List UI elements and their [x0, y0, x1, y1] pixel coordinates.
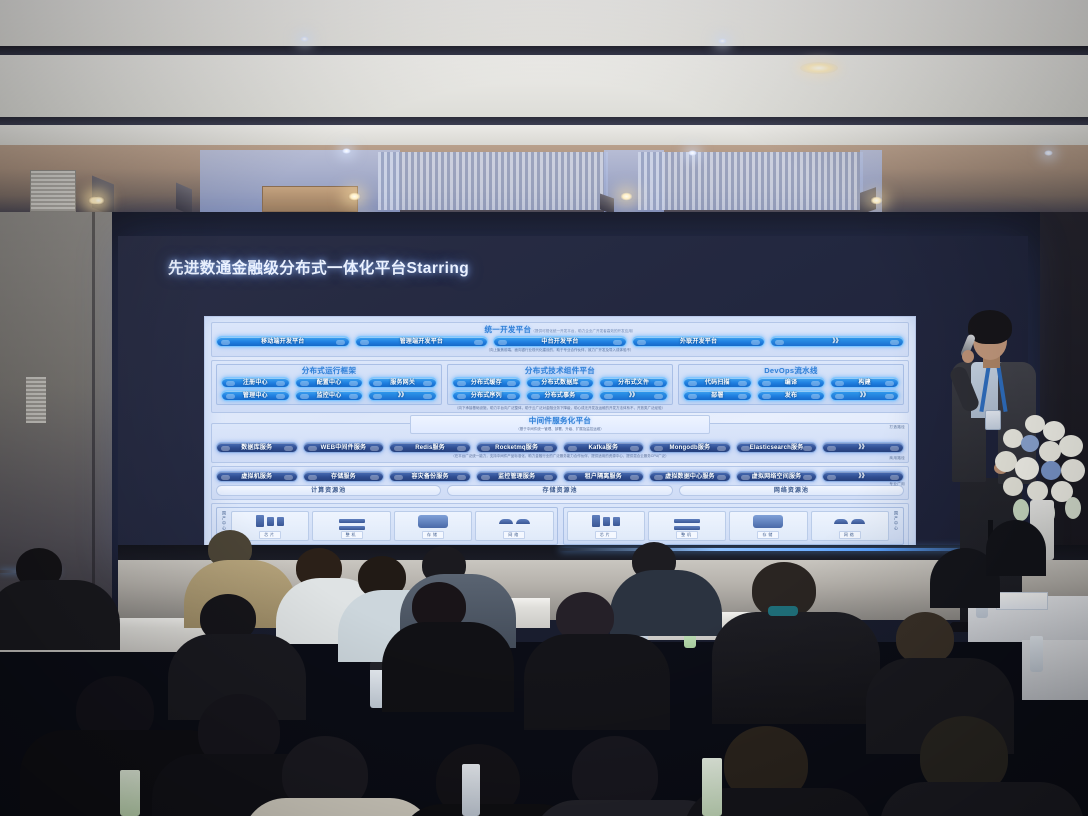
pill-distributed-database[interactable]: 分布式数据库	[526, 377, 595, 388]
pill-distributed-cache[interactable]: 分布式缓存	[452, 377, 521, 388]
audience-shoulders	[524, 634, 670, 730]
server-icon	[674, 519, 700, 523]
runtime-items-row2: 管理中心 监控中心 》》	[221, 390, 437, 401]
network-icons	[834, 512, 865, 531]
pill-monitor-center[interactable]: 监控中心	[295, 390, 364, 401]
pill-database-service[interactable]: 数据库服务	[216, 442, 298, 453]
layer-middleware-platform: 中间件服务化平台 （基于中间件统一管理、部署、升级、扩展及监控运维） 打造路径 …	[211, 423, 909, 462]
pill-management-center[interactable]: 管理中心	[221, 390, 290, 401]
flower	[1061, 459, 1085, 482]
layer-hardware: 国产中心 芯片 整机	[211, 503, 909, 549]
wall-seam	[92, 212, 95, 642]
column-title: DevOps流水线	[683, 367, 899, 375]
network-icon	[499, 519, 513, 524]
virtualization-items: 虚拟机服务 存储服务 容灾备份服务 监控管理服务 租户隔离服务 虚拟数据中心服务…	[216, 471, 904, 482]
lanyard	[768, 606, 798, 616]
ceiling-light	[688, 150, 697, 156]
ceiling-light	[718, 38, 727, 44]
water-bottle	[1030, 636, 1043, 672]
hw-caption: 整机	[676, 531, 698, 539]
pill-service-gateway[interactable]: 服务网关	[368, 377, 437, 388]
pill-rocketmq-service[interactable]: Rocketmq服务	[476, 442, 558, 453]
chip-icon	[267, 517, 274, 526]
hw-caption: 网络	[839, 531, 861, 539]
pill-tenant-isolation-service[interactable]: 租户隔离服务	[563, 471, 645, 482]
layer-note: （向下承接基础设施，助力平台向广泛整体，助于云广泛对金融业务下降级，助心成无开发…	[216, 406, 904, 410]
pill-more[interactable]: 》》	[599, 390, 668, 401]
pill-virtual-network-service[interactable]: 虚拟网络空间服务	[736, 471, 818, 482]
layer-title-sub: （基于中间件统一管理、部署、升级、扩展及监控运维）	[411, 427, 709, 431]
ceiling-air-grille-right	[638, 152, 863, 210]
pill-web-middleware-service[interactable]: WEB中间件服务	[303, 442, 385, 453]
network-icons	[499, 512, 530, 531]
ceiling-wood-inset	[262, 186, 358, 212]
pill-distributed-sequence[interactable]: 分布式序列	[452, 390, 521, 401]
audience-shoulders	[0, 580, 120, 650]
flower	[1039, 441, 1061, 462]
layer-note: （向上聚焦前端、面向银行业现代化建设的，助于专业合作伙伴，致力广开发及导入成体验…	[216, 348, 904, 352]
pill-external-dev[interactable]: 外联开发平台	[632, 336, 766, 347]
flower	[1003, 477, 1023, 496]
ceiling-band-lower	[0, 125, 1088, 145]
runtime-items-row1: 注册中心 配置中心 服务网关	[221, 377, 437, 388]
pill-mongodb-service[interactable]: Mongodb服务	[649, 442, 731, 453]
ceiling-air-grille-left	[378, 152, 608, 210]
pill-compile[interactable]: 编译	[757, 377, 826, 388]
flower	[1025, 415, 1045, 433]
ceiling-light	[342, 148, 351, 154]
chip-icon	[613, 517, 620, 526]
hw-cell-network: 网络	[811, 511, 889, 541]
audience-shoulders	[986, 520, 1046, 576]
audience-shoulders	[712, 612, 880, 724]
flower-blue	[1021, 435, 1039, 452]
pill-storage-service[interactable]: 存储服务	[303, 471, 385, 482]
name-card	[996, 592, 1048, 610]
ceiling-light	[620, 192, 633, 201]
column-distributed-runtime: 分布式运行框架 注册中心 配置中心 服务网关 管理中心 监控中心 》》	[216, 364, 442, 405]
hardware-block-left: 国产中心 芯片 整机	[216, 507, 558, 545]
water-bottle	[462, 764, 480, 816]
pill-virtual-datacenter-service[interactable]: 虚拟数据中心服务	[649, 471, 731, 482]
pill-monitor-mgmt-service[interactable]: 监控管理服务	[476, 471, 558, 482]
tech-items-row1: 分布式缓存 分布式数据库 分布式文件	[452, 377, 668, 388]
ceiling-band-top	[0, 0, 1088, 46]
hardware-blocks: 国产中心 芯片 整机	[216, 507, 904, 545]
ceiling-speaker	[800, 62, 838, 74]
server-icon	[339, 526, 365, 530]
side-label-commercial-path: 商用路径	[889, 456, 905, 461]
pill-mobile-dev[interactable]: 移动端开发平台	[216, 336, 350, 347]
pill-more[interactable]: 》》	[830, 390, 899, 401]
chip-icon	[277, 517, 284, 526]
storage-icon	[418, 515, 448, 528]
flower	[1059, 435, 1083, 457]
audience-head	[896, 612, 954, 664]
unified-dev-items: 移动端开发平台 管理端开发平台 中台开发平台 外联开发平台 》》	[216, 336, 904, 347]
tech-items-row2: 分布式序列 分布式事务 》》	[452, 390, 668, 401]
pill-distributed-file[interactable]: 分布式文件	[599, 377, 668, 388]
server-icon	[674, 526, 700, 530]
storage-icons	[418, 512, 448, 531]
pill-release[interactable]: 发布	[757, 390, 826, 401]
hw-cell-server: 整机	[648, 511, 726, 541]
pill-code-scan[interactable]: 代码扫描	[683, 377, 752, 388]
layer-core-platforms: 分布式运行框架 注册中心 配置中心 服务网关 管理中心 监控中心 》》 分布式技…	[211, 360, 909, 414]
presenter-hand	[962, 350, 974, 363]
flower	[1015, 457, 1039, 480]
server-icons	[674, 512, 700, 531]
hw-caption: 网络	[503, 531, 525, 539]
pill-distributed-transaction[interactable]: 分布式事务	[526, 390, 595, 401]
layer-unified-dev-platform: 统一开发平台（提供可视化统一开发平台，助力企业广开发者高效的开发应用） 移动端开…	[211, 322, 909, 357]
pill-kafka-service[interactable]: Kafka服务	[563, 442, 645, 453]
network-icon	[834, 519, 848, 524]
hw-caption: 存储	[757, 531, 779, 539]
chip-icons	[256, 512, 284, 531]
storage-icon	[753, 515, 783, 528]
foliage	[1013, 499, 1029, 521]
audience-shoulders	[880, 782, 1084, 816]
ceiling-light	[1044, 150, 1053, 156]
side-label-build-path: 打造路径	[889, 425, 905, 430]
pill-more[interactable]: 》》	[822, 442, 904, 453]
pill-deploy[interactable]: 部署	[683, 390, 752, 401]
wall-vent	[26, 377, 46, 423]
pill-more[interactable]: 》》	[368, 390, 437, 401]
hw-cell-server: 整机	[312, 511, 390, 541]
core-platform-columns: 分布式运行框架 注册中心 配置中心 服务网关 管理中心 监控中心 》》 分布式技…	[216, 364, 904, 405]
pill-vm-service[interactable]: 虚拟机服务	[216, 471, 298, 482]
audience-shoulders	[610, 570, 722, 636]
hw-cell-storage: 存储	[394, 511, 472, 541]
ceiling-light	[300, 36, 309, 42]
hw-caption: 芯片	[595, 531, 617, 539]
column-title: 分布式运行框架	[221, 367, 437, 375]
devops-items-row1: 代码扫描 编译 构建	[683, 377, 899, 388]
pool-storage: 存储资源池	[447, 485, 672, 496]
side-label-national-center-right: 国产中心	[892, 511, 900, 541]
audience-shoulders	[242, 798, 434, 816]
pill-redis-service[interactable]: Redis服务	[389, 442, 471, 453]
column-distributed-tech-components: 分布式技术组件平台 分布式缓存 分布式数据库 分布式文件 分布式序列 分布式事务…	[447, 364, 673, 405]
chip-icons	[592, 512, 620, 531]
side-label-professional: 专业广用	[889, 482, 905, 487]
conference-hall-scene: 先进数通金融级分布式一体化平台Starring 统一开发平台（提供可视化统一开发…	[0, 0, 1088, 816]
flower-blue	[1041, 461, 1061, 480]
hw-cell-storage: 存储	[729, 511, 807, 541]
hw-caption: 芯片	[259, 531, 281, 539]
resource-pools: 计算资源池 存储资源池 网络资源池	[216, 485, 904, 496]
hardware-block-right: 芯片 整机 存储	[563, 507, 905, 545]
column-devops-pipeline: DevOps流水线 代码扫描 编译 构建 部署 发布 》》	[678, 364, 904, 405]
hw-caption: 整机	[341, 531, 363, 539]
hw-cell-network: 网络	[475, 511, 553, 541]
pill-midplatform-dev[interactable]: 中台开发平台	[493, 336, 627, 347]
layer-title: 中间件服务化平台	[411, 417, 709, 425]
middleware-title-box: 中间件服务化平台 （基于中间件统一管理、部署、升级、扩展及监控运维）	[410, 415, 710, 434]
pool-network: 网络资源池	[679, 485, 904, 496]
ceiling-seam-upper	[0, 46, 1088, 55]
chip-icon	[256, 515, 264, 527]
water-bottle	[120, 770, 140, 816]
hw-cell-chip: 芯片	[567, 511, 645, 541]
ceiling-seam-lower	[0, 117, 1088, 125]
water-bottle	[702, 758, 722, 816]
storage-icons	[753, 512, 783, 531]
flower	[1003, 429, 1023, 448]
ceiling-band-mid	[0, 55, 1088, 117]
ceiling	[0, 0, 1088, 212]
network-icon	[516, 519, 530, 524]
flower	[1027, 481, 1048, 501]
ceiling-light	[348, 192, 361, 201]
middleware-items: 数据库服务 WEB中间件服务 Redis服务 Rocketmq服务 Kafka服…	[216, 442, 904, 453]
ceiling-light	[870, 196, 883, 205]
slide-title: 先进数通金融级分布式一体化平台Starring	[168, 256, 588, 278]
pill-dr-backup-service[interactable]: 容灾备份服务	[389, 471, 471, 482]
server-icons	[339, 512, 365, 531]
server-icon	[339, 519, 365, 523]
architecture-diagram: 统一开发平台（提供可视化统一开发平台，助力企业广开发者高效的开发应用） 移动端开…	[204, 316, 916, 564]
devops-items-row2: 部署 发布 》》	[683, 390, 899, 401]
chip-icon	[592, 515, 600, 527]
pill-registry-center[interactable]: 注册中心	[221, 377, 290, 388]
pill-elasticsearch-service[interactable]: Elasticsearch服务	[736, 442, 818, 453]
hw-caption: 存储	[422, 531, 444, 539]
network-icon	[851, 519, 865, 524]
pill-admin-dev[interactable]: 管理端开发平台	[355, 336, 489, 347]
layer-note: （在平台广泛统一能力，支持中间件产品标准化，助力金融行业的广泛服务能力合作伙伴，…	[216, 454, 904, 458]
column-title: 分布式技术组件平台	[452, 367, 668, 375]
ceiling-light	[92, 196, 105, 205]
pill-config-center[interactable]: 配置中心	[295, 377, 364, 388]
layer-virtualization: 虚拟机服务 存储服务 容灾备份服务 监控管理服务 租户隔离服务 虚拟数据中心服务…	[211, 466, 909, 500]
flower	[995, 451, 1017, 472]
chip-icon	[603, 517, 610, 526]
ceiling-vent	[30, 170, 76, 212]
pill-build[interactable]: 构建	[830, 377, 899, 388]
foliage	[1065, 497, 1081, 519]
pill-more[interactable]: 》》	[822, 471, 904, 482]
audience-shoulders	[382, 622, 514, 712]
pool-compute: 计算资源池	[216, 485, 441, 496]
pill-more[interactable]: 》》	[770, 336, 904, 347]
layer-title-sub: （提供可视化统一开发平台，助力企业广开发者高效的开发应用）	[531, 329, 635, 333]
layer-title: 统一开发平台（提供可视化统一开发平台，助力企业广开发者高效的开发应用）	[216, 326, 904, 334]
